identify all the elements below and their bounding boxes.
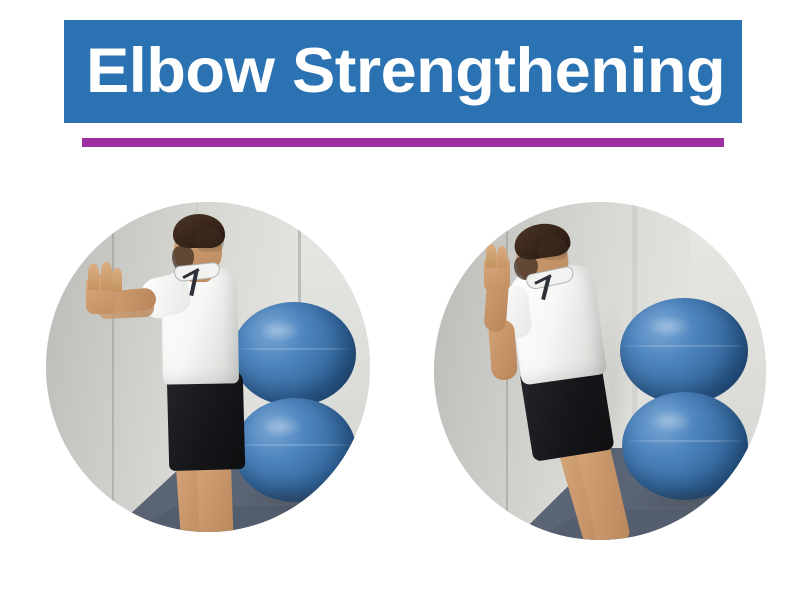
- ball-floor-shadow: [626, 486, 752, 516]
- finger: [88, 264, 99, 290]
- finger: [112, 268, 122, 292]
- figure-end-position: [434, 202, 766, 540]
- title-banner: Elbow Strengthening: [64, 20, 742, 123]
- page-root: Elbow Strengthening: [0, 0, 800, 600]
- hair-fade: [196, 228, 224, 252]
- hair-fade: [538, 236, 568, 260]
- ball-seam: [627, 440, 743, 442]
- scene-start: [46, 202, 370, 532]
- exercise-ball-upper: [232, 302, 356, 406]
- scene-end: [434, 202, 766, 540]
- ball-seam: [239, 444, 351, 446]
- wall-seam-left: [112, 202, 114, 532]
- accent-rule: [82, 138, 724, 147]
- figure-start-position: [46, 202, 370, 532]
- wall-shadow: [592, 298, 632, 478]
- exercise-ball-lower: [622, 392, 748, 500]
- page-title: Elbow Strengthening: [86, 40, 725, 103]
- ball-seam: [625, 345, 743, 347]
- ball-seam: [237, 348, 351, 350]
- finger: [497, 246, 507, 268]
- finger: [101, 262, 112, 290]
- finger: [486, 244, 496, 268]
- ball-floor-shadow: [238, 486, 358, 514]
- shorts: [167, 371, 246, 471]
- exercise-ball-upper: [620, 298, 748, 404]
